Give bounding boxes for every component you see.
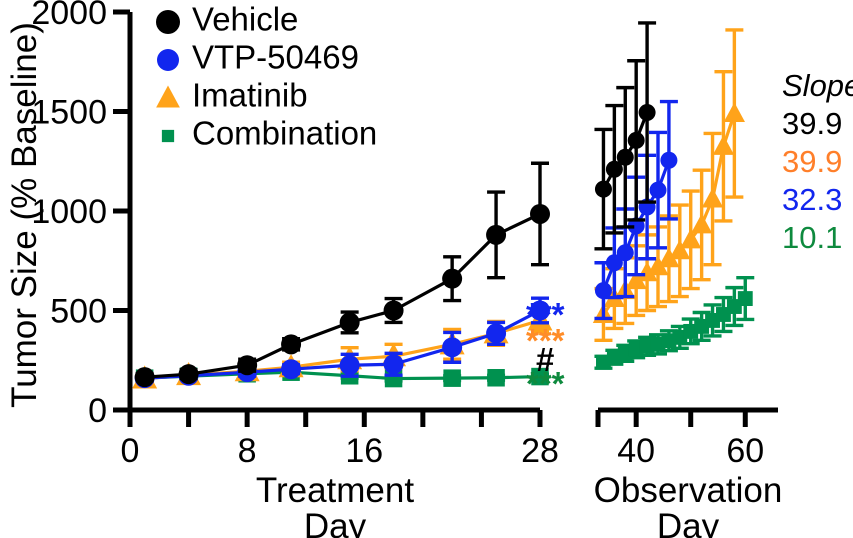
data-point xyxy=(281,359,301,379)
data-point xyxy=(530,204,550,224)
legend-marker-square xyxy=(162,130,174,142)
data-point xyxy=(650,182,667,199)
data-point xyxy=(713,135,734,155)
data-point xyxy=(281,334,301,354)
data-point xyxy=(135,367,155,387)
x-axis-tick-label-treatment: 28 xyxy=(521,432,559,470)
data-point xyxy=(595,181,612,198)
x-axis-tick-label-treatment: 8 xyxy=(238,432,257,470)
significance-annotations: ******#*** xyxy=(526,296,565,402)
data-point xyxy=(340,355,360,375)
legend-label: VTP-50469 xyxy=(192,39,359,76)
chart-canvas: 0500100015002000Tumor Size (% Baseline)0… xyxy=(0,0,853,538)
x-axis-title-observation: Observation xyxy=(594,471,783,510)
data-point xyxy=(486,225,506,245)
slope-value-vtp-50469: 32.3 xyxy=(782,182,842,217)
data-point xyxy=(487,369,505,387)
data-point xyxy=(486,323,506,343)
x-axis-tick-label-treatment: 0 xyxy=(121,432,140,470)
x-axis-tick-label-observation: 60 xyxy=(726,432,764,470)
data-point xyxy=(237,355,257,375)
legend-label: Imatinib xyxy=(192,77,308,114)
x-axis-title-day-observation: Day xyxy=(657,507,720,538)
legend-label: Combination xyxy=(192,115,377,152)
data-point xyxy=(738,291,753,306)
y-axis-tick-label: 0 xyxy=(88,392,107,430)
data-point xyxy=(384,301,404,321)
data-point xyxy=(724,102,745,122)
data-point xyxy=(702,188,723,208)
tumor-growth-figure: 0500100015002000Tumor Size (% Baseline)0… xyxy=(0,0,853,538)
y-axis-tick-label: 500 xyxy=(50,293,107,331)
slope-value-imatinib: 39.9 xyxy=(782,144,842,179)
data-point xyxy=(384,354,404,374)
x-axis-tick-label-observation: 40 xyxy=(617,432,655,470)
significance-mark-3: *** xyxy=(526,365,565,402)
data-point xyxy=(179,364,199,384)
legend-item-imatinib[interactable]: Imatinib xyxy=(156,77,307,114)
data-point xyxy=(442,269,462,289)
data-point xyxy=(443,369,461,387)
x-axis-tick-label-treatment: 16 xyxy=(345,432,383,470)
legend-marker-circle xyxy=(156,10,180,34)
data-point xyxy=(660,152,677,169)
slope-annotation: Slope39.939.932.310.1 xyxy=(782,68,853,255)
data-point xyxy=(595,282,612,299)
slope-value-combination: 10.1 xyxy=(782,220,842,255)
slope-value-vehicle: 39.9 xyxy=(782,106,842,141)
data-point xyxy=(340,312,360,332)
y-axis-title: Tumor Size (% Baseline) xyxy=(5,22,44,408)
data-point xyxy=(639,104,656,121)
x-axis-title-treatment: Treatment xyxy=(256,471,414,510)
legend-item-vehicle[interactable]: Vehicle xyxy=(156,1,298,38)
legend-label: Vehicle xyxy=(192,1,298,38)
data-point xyxy=(617,244,634,261)
x-axis-title-day-treatment: Day xyxy=(304,507,367,538)
legend-marker-triangle xyxy=(156,86,180,108)
data-point xyxy=(691,214,712,234)
slope-header: Slope xyxy=(782,68,853,103)
data-point xyxy=(617,149,634,166)
legend-item-combination[interactable]: Combination xyxy=(162,115,377,152)
data-point xyxy=(442,337,462,357)
legend: VehicleVTP-50469ImatinibCombination xyxy=(156,1,377,152)
legend-item-vtp-50469[interactable]: VTP-50469 xyxy=(157,39,359,76)
data-point xyxy=(628,132,645,149)
legend-marker-circle xyxy=(157,49,179,71)
